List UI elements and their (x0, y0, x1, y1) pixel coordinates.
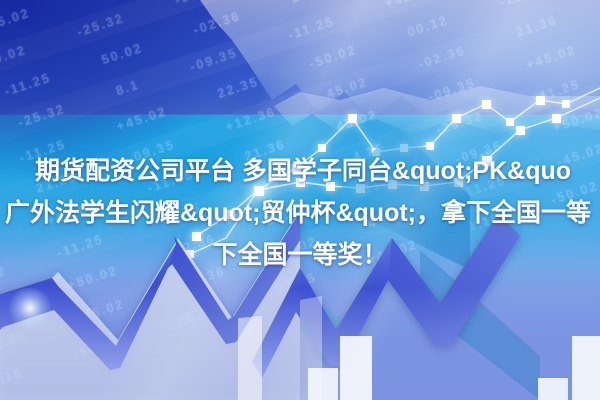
headline-line-2: 广外法学生闪耀&quot;贸仲杯&quot;，拿下全国一等 (0, 192, 600, 234)
headline-text: 期货配资公司平台 多国学子同台&quot;PK&quo 广外法学生闪耀&quot… (0, 150, 600, 276)
headline-line-3: 下全国一等奖！ (0, 234, 600, 276)
banner-image: -09.35+45.02-11.2521.3645.02-09.35+45.02… (0, 0, 600, 400)
headline-line-1: 期货配资公司平台 多国学子同台&quot;PK&quo (6, 150, 600, 192)
